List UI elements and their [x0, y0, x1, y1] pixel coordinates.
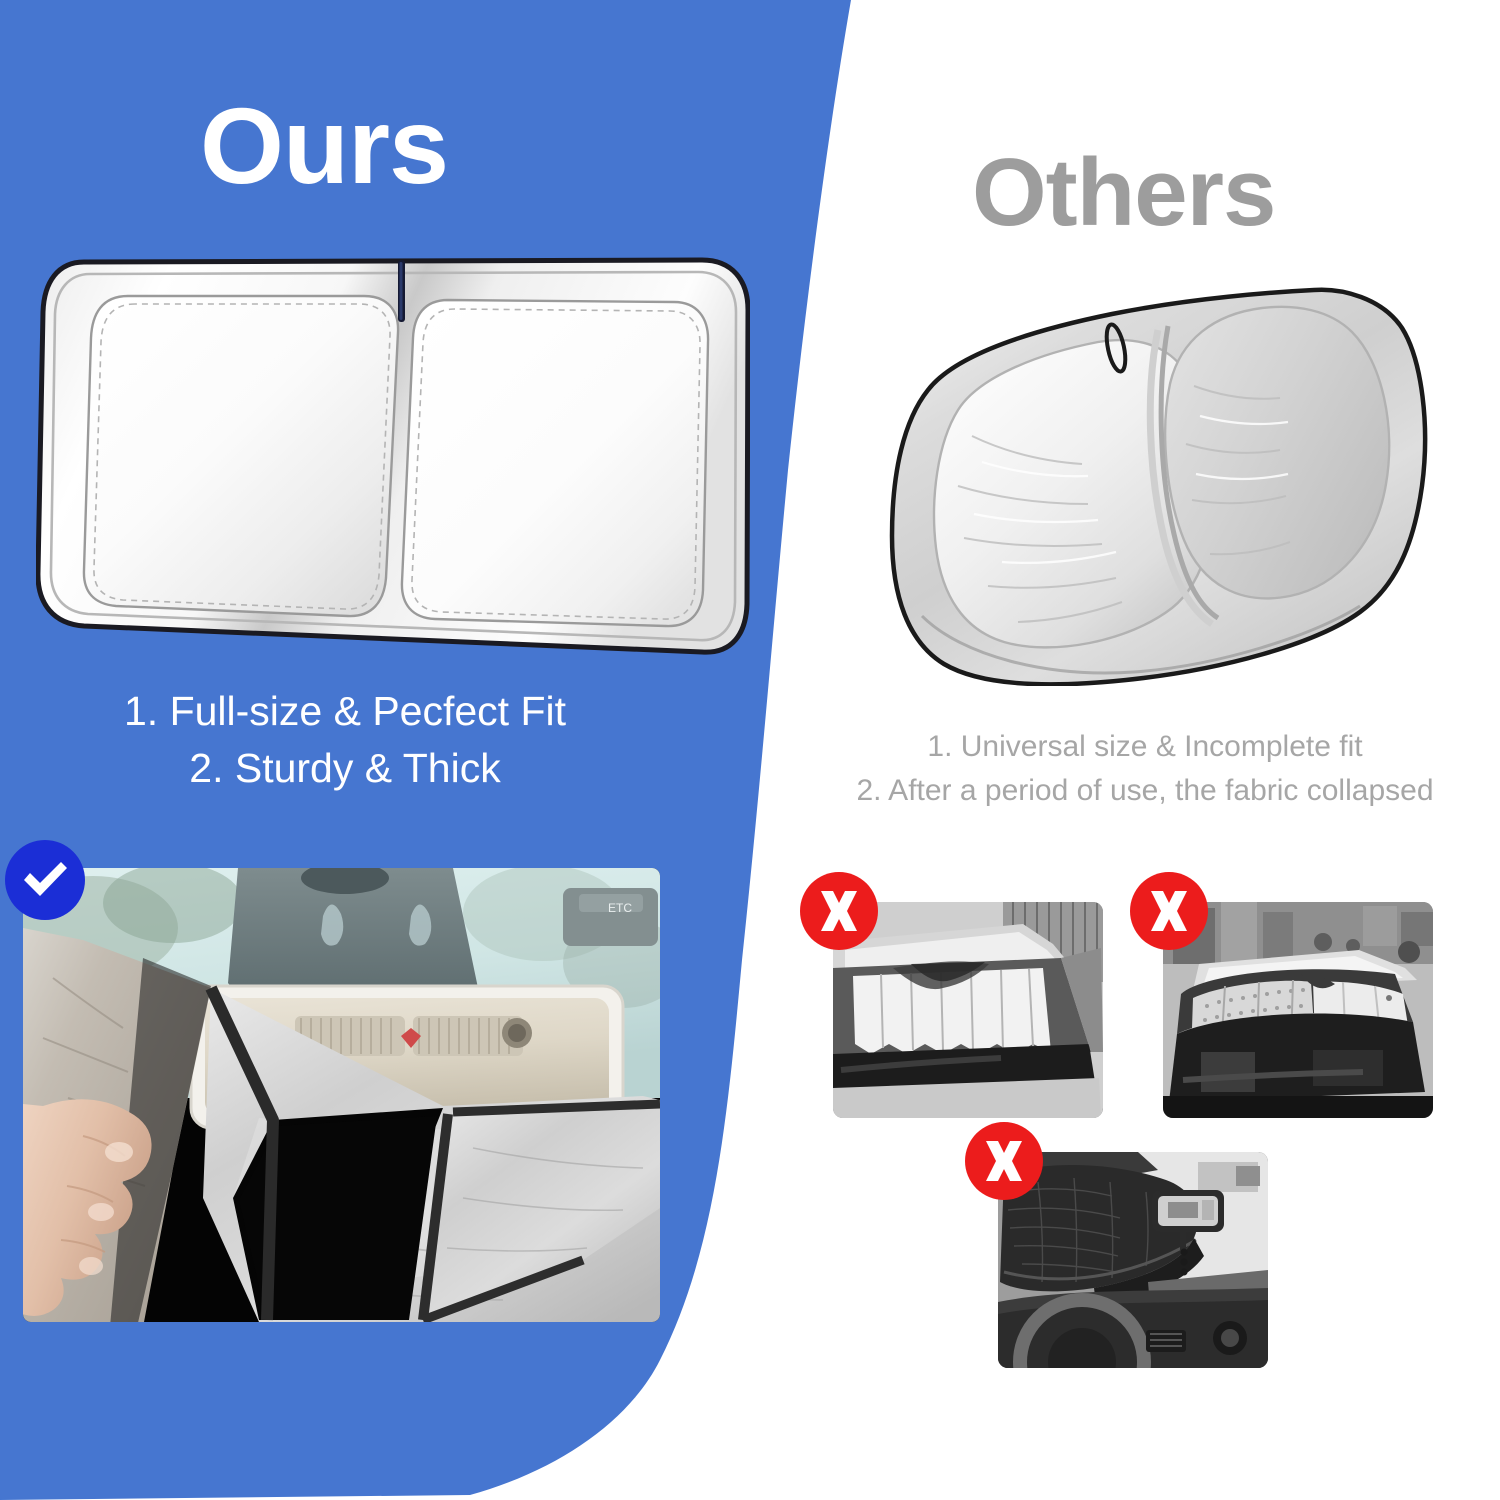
ours-caption-line-2: 2. Sturdy & Thick: [0, 740, 690, 797]
ours-photo-artwork: ETC: [23, 868, 660, 1322]
others-photo-3-artwork: [998, 1152, 1268, 1368]
others-captions: 1. Universal size & Incomplete fit 2. Af…: [790, 725, 1500, 812]
others-photo-2-artwork: [1163, 902, 1433, 1118]
svg-text:ETC: ETC: [608, 901, 632, 915]
others-photo-3: [998, 1152, 1268, 1368]
check-icon: [18, 853, 72, 907]
others-photo-1: [833, 902, 1103, 1118]
comparison-infographic: Ours: [0, 0, 1500, 1500]
others-heading: Others: [972, 145, 1275, 241]
others-photo-1-artwork: [833, 902, 1103, 1118]
others-caption-line-1: 1. Universal size & Incomplete fit: [790, 725, 1500, 769]
cross-icon: [978, 1135, 1030, 1187]
ours-installed-photo: ETC: [23, 868, 660, 1322]
ours-heading: Ours: [200, 92, 448, 200]
ours-product-illustration: [36, 252, 750, 662]
ours-captions: 1. Full-size & Pecfect Fit 2. Sturdy & T…: [0, 683, 690, 796]
cross-badge-2: [1130, 872, 1208, 950]
cross-icon: [1143, 885, 1195, 937]
check-badge: [5, 840, 85, 920]
others-caption-line-2: 2. After a period of use, the fabric col…: [790, 769, 1500, 813]
cross-icon: [813, 885, 865, 937]
ours-caption-line-1: 1. Full-size & Pecfect Fit: [0, 683, 690, 740]
others-product-illustration: [862, 286, 1462, 686]
others-photo-2: [1163, 902, 1433, 1118]
cross-badge-1: [800, 872, 878, 950]
cross-badge-3: [965, 1122, 1043, 1200]
